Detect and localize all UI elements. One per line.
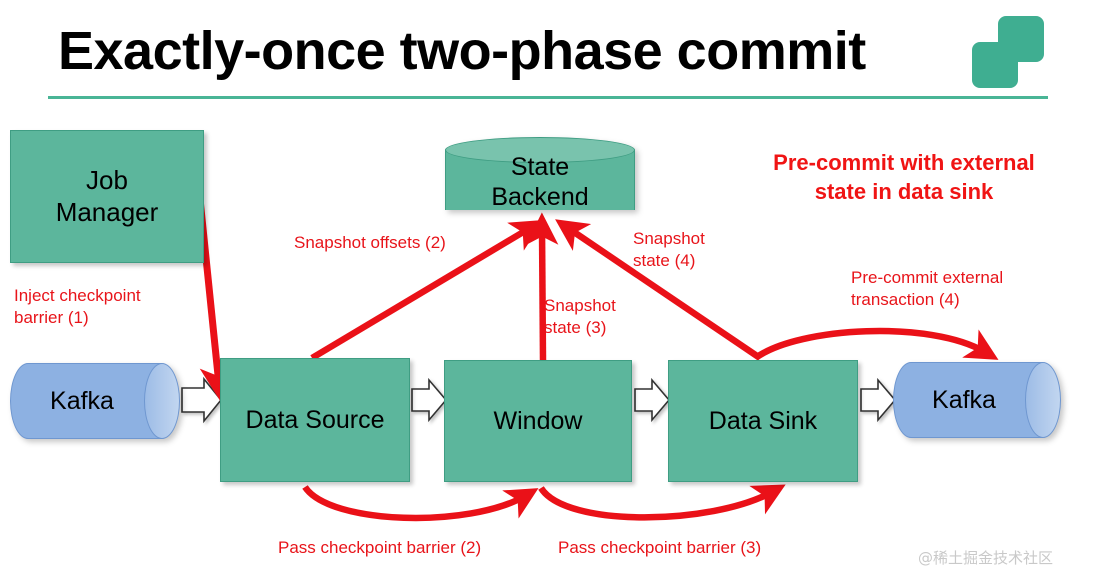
annotation-pass-barrier-3: Pass checkpoint barrier (3) xyxy=(558,537,761,559)
flow-arrow-data-source-to-window xyxy=(412,380,446,420)
two-squares-logo-icon xyxy=(972,16,1054,88)
node-kafka-source-label: Kafka xyxy=(10,363,154,439)
node-data-source-label: Data Source xyxy=(246,405,385,435)
flow-arrow-window-to-data-sink xyxy=(635,380,669,420)
flow-arrow-data-sink-to-kafka-out xyxy=(861,380,895,420)
red-arrow-data-sink-to-kafka-out-precommit xyxy=(757,331,985,357)
logo-square-front xyxy=(972,42,1018,88)
callout-precommit-external-state: Pre-commit with external state in data s… xyxy=(731,148,1077,206)
node-data-source[interactable]: Data Source xyxy=(220,358,410,482)
node-job-manager[interactable]: Job Manager xyxy=(10,130,204,263)
node-job-manager-label: Job Manager xyxy=(56,165,159,227)
node-state-backend-label: State Backend xyxy=(445,153,635,212)
annotation-snapshot-state-4: Snapshot state (4) xyxy=(633,228,705,273)
node-window[interactable]: Window xyxy=(444,360,632,482)
node-data-sink[interactable]: Data Sink xyxy=(668,360,858,482)
flow-arrow-kafka-in-to-data-source xyxy=(182,379,221,421)
node-kafka-source[interactable]: Kafka xyxy=(10,363,180,439)
red-arrow-window-to-data-sink-barrier xyxy=(541,488,772,517)
slide-canvas: Exactly-once two-phase commit xyxy=(0,0,1098,574)
annotation-pass-barrier-2: Pass checkpoint barrier (2) xyxy=(278,537,481,559)
node-kafka-sink[interactable]: Kafka xyxy=(893,362,1061,438)
title-divider xyxy=(48,96,1048,99)
node-data-sink-label: Data Sink xyxy=(709,406,817,436)
node-window-label: Window xyxy=(494,406,583,436)
annotation-snapshot-offsets: Snapshot offsets (2) xyxy=(294,232,446,254)
node-state-backend[interactable]: State Backend xyxy=(445,137,635,223)
page-title: Exactly-once two-phase commit xyxy=(58,20,866,82)
red-arrow-data-source-to-window-barrier xyxy=(305,487,525,518)
annotation-precommit-external-transaction: Pre-commit external transaction (4) xyxy=(851,267,1003,312)
red-arrow-window-to-state-backend xyxy=(542,228,543,360)
node-kafka-sink-label: Kafka xyxy=(893,362,1035,438)
annotation-snapshot-state-3: Snapshot state (3) xyxy=(544,295,616,340)
watermark: @稀土掘金技术社区 xyxy=(918,547,1053,568)
annotation-inject-barrier: Inject checkpoint barrier (1) xyxy=(14,285,141,330)
